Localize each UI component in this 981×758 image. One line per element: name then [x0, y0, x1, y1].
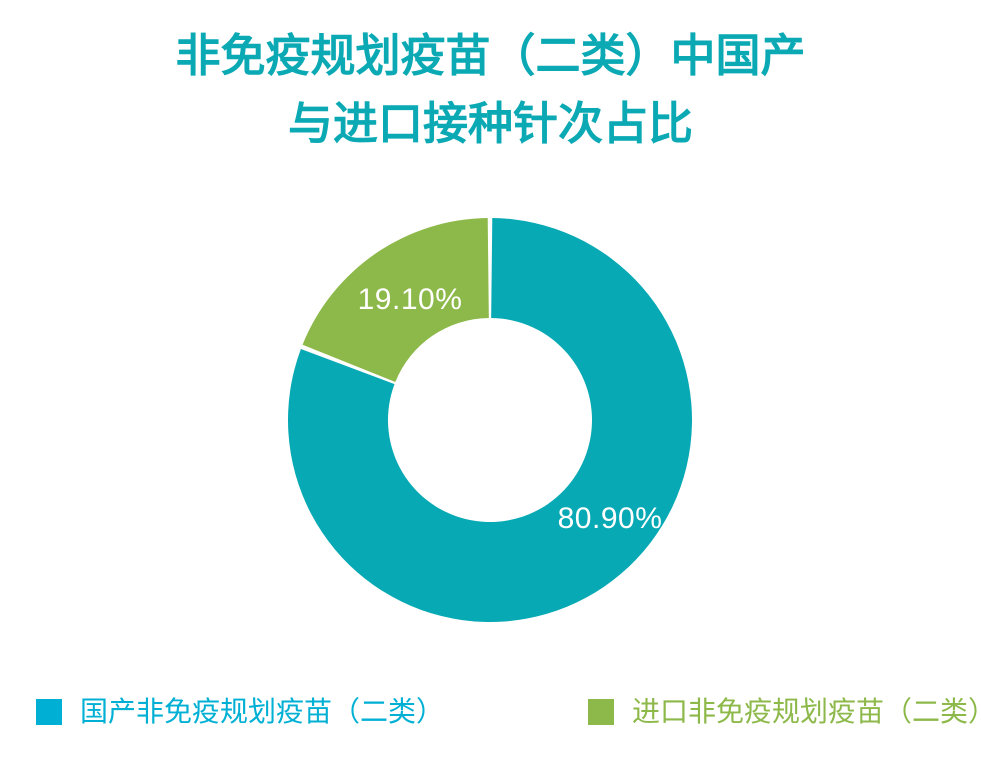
donut-slice-group — [288, 218, 692, 622]
legend-swatch-icon-import — [588, 699, 614, 725]
legend-label-import: 进口非免疫规划疫苗（二类） — [632, 698, 981, 726]
page-title-line-1: 非免疫规划疫苗（二类）中国产 — [0, 22, 981, 90]
page-title-line-2: 与进口接种针次占比 — [0, 90, 981, 158]
legend-item-domestic[interactable]: 国产非免疫规划疫苗（二类） — [36, 690, 444, 734]
legend-swatch-icon-domestic — [36, 699, 62, 725]
legend-item-import[interactable]: 进口非免疫规划疫苗（二类） — [588, 690, 981, 734]
legend-label-domestic: 国产非免疫规划疫苗（二类） — [80, 698, 444, 726]
donut-chart — [288, 218, 692, 622]
chart-canvas: 非免疫规划疫苗（二类）中国产 与进口接种针次占比 19.10% 80.90% 国… — [0, 0, 981, 758]
page-title: 非免疫规划疫苗（二类）中国产 与进口接种针次占比 — [0, 22, 981, 159]
chart-legend: 国产非免疫规划疫苗（二类） 进口非免疫规划疫苗（二类） — [0, 690, 981, 738]
donut-slice[interactable] — [303, 218, 489, 382]
donut-chart-svg — [288, 218, 692, 622]
